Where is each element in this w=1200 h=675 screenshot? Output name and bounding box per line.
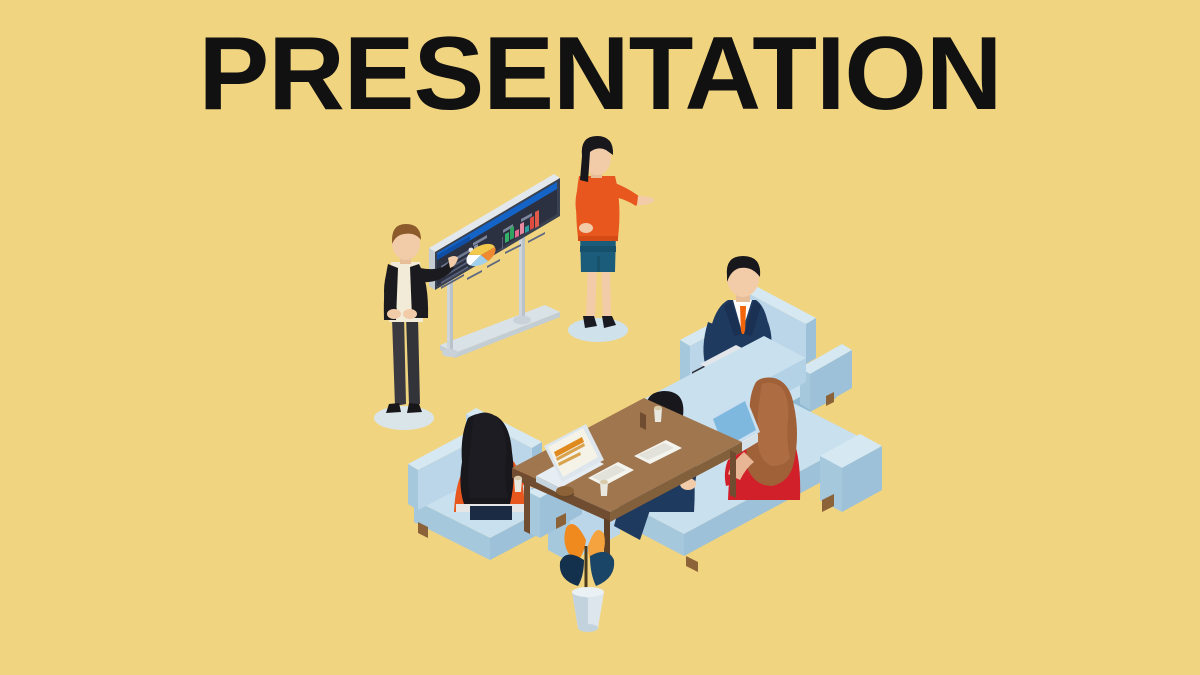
female-presenter[interactable] [568, 136, 655, 342]
slide-canvas: PRESENTATION [0, 0, 1200, 675]
isometric-illustration [0, 0, 1200, 675]
screen-stand-base [440, 305, 560, 358]
illustration-svg [0, 0, 1200, 675]
